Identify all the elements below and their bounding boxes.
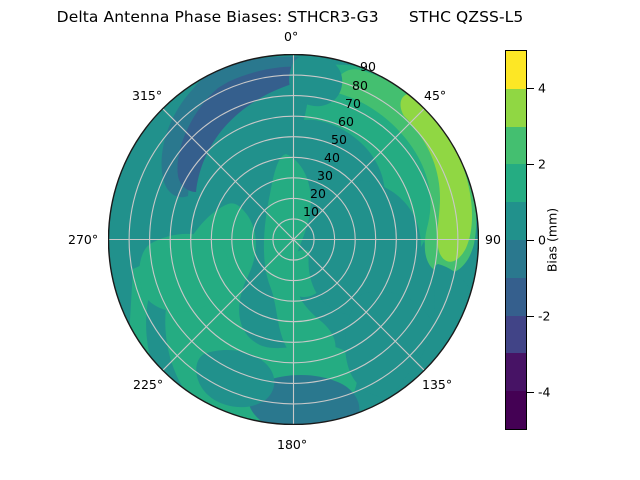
- radial-tick-20: 20: [310, 186, 326, 201]
- colorbar-band-5: [506, 240, 526, 278]
- angular-tick-225: 225°: [133, 377, 163, 392]
- colorbar-band-0: [506, 51, 526, 89]
- radial-tick-60: 60: [338, 114, 354, 129]
- colorbar-band-3: [506, 164, 526, 202]
- colorbar-tick-mark-2: [527, 164, 534, 165]
- colorbar-band-1: [506, 89, 526, 127]
- colorbar-band-8: [506, 353, 526, 391]
- colorbar-tick-label-n2: -2: [538, 309, 550, 324]
- colorbar-tick-label-4: 4: [538, 81, 546, 96]
- angular-tick-0: 0°: [284, 29, 298, 44]
- colorbar-band-9: [506, 391, 526, 429]
- polar-plot: [108, 54, 479, 425]
- colorbar-axis-label: Bias (mm): [545, 208, 560, 272]
- radial-tick-10: 10: [303, 204, 319, 219]
- colorbar-band-2: [506, 127, 526, 165]
- angular-tick-45: 45°: [424, 88, 446, 103]
- colorbar-band-4: [506, 202, 526, 240]
- colorbar-tick-mark-4: [527, 88, 534, 89]
- figure-canvas: Delta Antenna Phase Biases: STHCR3-G3 ST…: [0, 0, 640, 480]
- colorbar-tick-mark-n2: [527, 316, 534, 317]
- polar-grid-spokes: [109, 55, 479, 425]
- colorbar-tick-label-n4: -4: [538, 385, 550, 400]
- colorbar-tick-label-2: 2: [538, 157, 546, 172]
- colorbar-tick-mark-n4: [527, 392, 534, 393]
- colorbar-band-6: [506, 278, 526, 316]
- radial-tick-90: 90: [360, 59, 376, 74]
- colorbar-band-7: [506, 316, 526, 354]
- colorbar: 4 2 0 -2 -4: [505, 50, 527, 430]
- radial-tick-50: 50: [331, 132, 347, 147]
- angular-tick-315: 315°: [132, 88, 162, 103]
- radial-tick-30: 30: [317, 168, 333, 183]
- colorbar-tick-mark-0: [527, 240, 534, 241]
- angular-tick-270: 270°: [68, 232, 98, 247]
- angular-tick-90: 90: [485, 232, 501, 247]
- page-title: Delta Antenna Phase Biases: STHCR3-G3 ST…: [0, 8, 580, 26]
- angular-tick-135: 135°: [422, 377, 452, 392]
- radial-tick-80: 80: [352, 78, 368, 93]
- angular-tick-180: 180°: [277, 437, 307, 452]
- colorbar-gradient: [505, 50, 527, 430]
- radial-tick-70: 70: [345, 96, 361, 111]
- radial-tick-40: 40: [324, 150, 340, 165]
